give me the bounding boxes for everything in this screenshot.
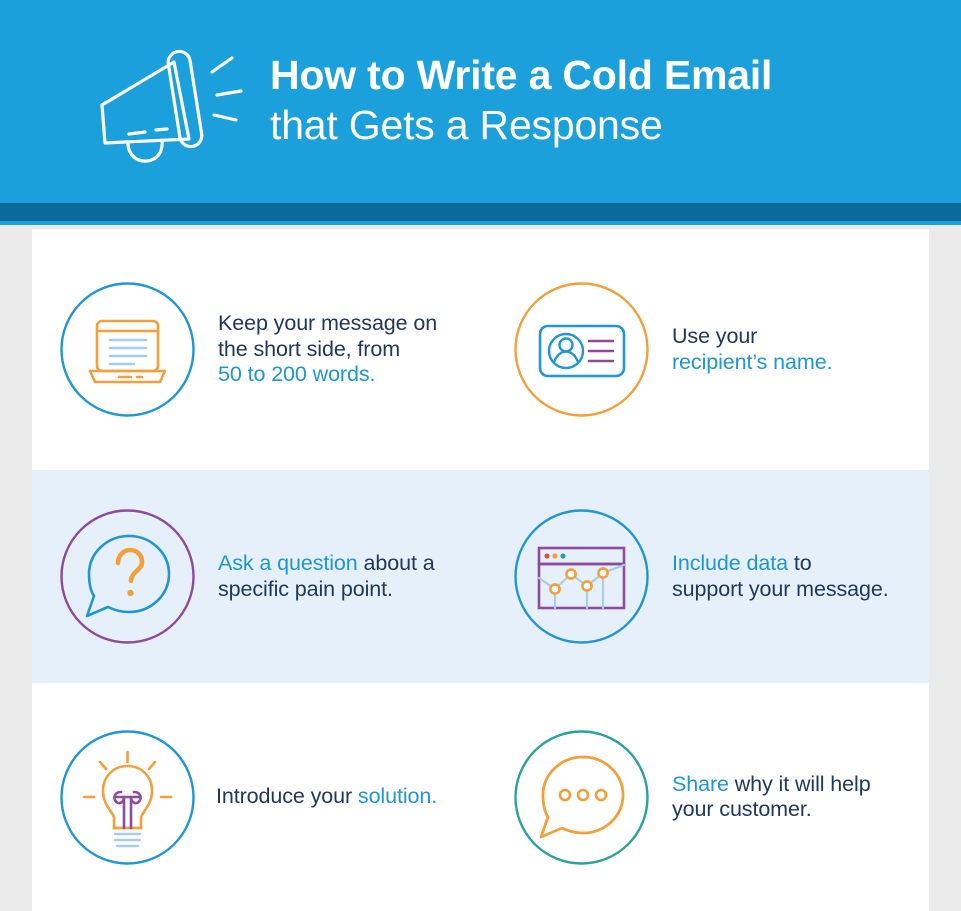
- caption-line: Keep your message on: [218, 311, 437, 337]
- caption-segment-highlight: 50 to 200 words.: [218, 362, 375, 386]
- caption-segment-highlight: Ask a question: [218, 551, 358, 575]
- caption-segment: about a: [358, 551, 435, 575]
- caption-segment-highlight: solution.: [358, 784, 437, 808]
- caption-segment: your customer.: [672, 797, 812, 821]
- caption-segment: why it will help: [729, 772, 871, 796]
- tip-share-benefit-caption: Share why it will help your customer.: [672, 772, 871, 823]
- caption-line: Share why it will help: [672, 772, 871, 798]
- question-bubble-icon: [59, 508, 196, 645]
- megaphone-icon: [88, 39, 248, 164]
- caption-line: support your message.: [672, 577, 889, 603]
- caption-line: your customer.: [672, 797, 871, 823]
- caption-segment: Introduce your: [216, 784, 358, 808]
- chat-dots-icon: [513, 729, 650, 866]
- tips-content: Keep your message on the short side, fro…: [32, 229, 929, 911]
- caption-line: 50 to 200 words.: [218, 362, 437, 388]
- infographic-page: How to Write a Cold Email that Gets a Re…: [0, 0, 961, 911]
- header-accent-band-light: [0, 221, 961, 225]
- caption-segment: Keep your message on: [218, 311, 437, 335]
- tip-recipient-name-caption: Use your recipient’s name.: [672, 324, 832, 375]
- caption-line: Include data to: [672, 551, 889, 577]
- lightbulb-icon: [59, 729, 196, 866]
- tip-include-data-caption: Include data to support your message.: [672, 551, 889, 602]
- caption-segment-highlight: recipient’s name.: [672, 350, 832, 374]
- caption-segment: Use your: [672, 324, 757, 348]
- caption-segment-highlight: Include data: [672, 551, 788, 575]
- id-card-icon: [513, 281, 650, 418]
- tip-ask-question-caption: Ask a question about a specific pain poi…: [218, 551, 435, 602]
- tip-length[interactable]: Keep your message on the short side, fro…: [32, 281, 480, 418]
- laptop-icon: [59, 281, 196, 418]
- tips-row-1: Keep your message on the short side, fro…: [32, 229, 929, 470]
- tips-row-3: Introduce your solution.: [32, 683, 929, 911]
- tips-row-2: Ask a question about a specific pain poi…: [32, 470, 929, 683]
- chart-window-icon: [513, 508, 650, 645]
- caption-segment-highlight: Share: [672, 772, 729, 796]
- caption-segment: the short side, from: [218, 337, 400, 361]
- caption-segment: specific pain point.: [218, 577, 393, 601]
- tip-share-benefit[interactable]: Share why it will help your customer.: [480, 729, 929, 866]
- caption-segment: to: [788, 551, 812, 575]
- caption-line: Use your: [672, 324, 832, 350]
- tip-include-data[interactable]: Include data to support your message.: [480, 508, 929, 645]
- caption-segment: support your message.: [672, 577, 889, 601]
- header-banner: How to Write a Cold Email that Gets a Re…: [0, 0, 961, 203]
- caption-line: Ask a question about a: [218, 551, 435, 577]
- header-accent-band-dark: [0, 203, 961, 221]
- tip-ask-question[interactable]: Ask a question about a specific pain poi…: [32, 508, 480, 645]
- title-line-2: that Gets a Response: [270, 99, 772, 151]
- caption-line: the short side, from: [218, 337, 437, 363]
- title-line-1: How to Write a Cold Email: [270, 51, 772, 99]
- tip-recipient-name[interactable]: Use your recipient’s name.: [480, 281, 929, 418]
- tip-introduce-solution[interactable]: Introduce your solution.: [32, 729, 480, 866]
- caption-line: recipient’s name.: [672, 350, 832, 376]
- tip-length-caption: Keep your message on the short side, fro…: [218, 311, 437, 388]
- caption-line: Introduce your solution.: [216, 784, 437, 810]
- caption-line: specific pain point.: [218, 577, 435, 603]
- tip-introduce-solution-caption: Introduce your solution.: [216, 784, 437, 810]
- header-title-block: How to Write a Cold Email that Gets a Re…: [270, 51, 772, 152]
